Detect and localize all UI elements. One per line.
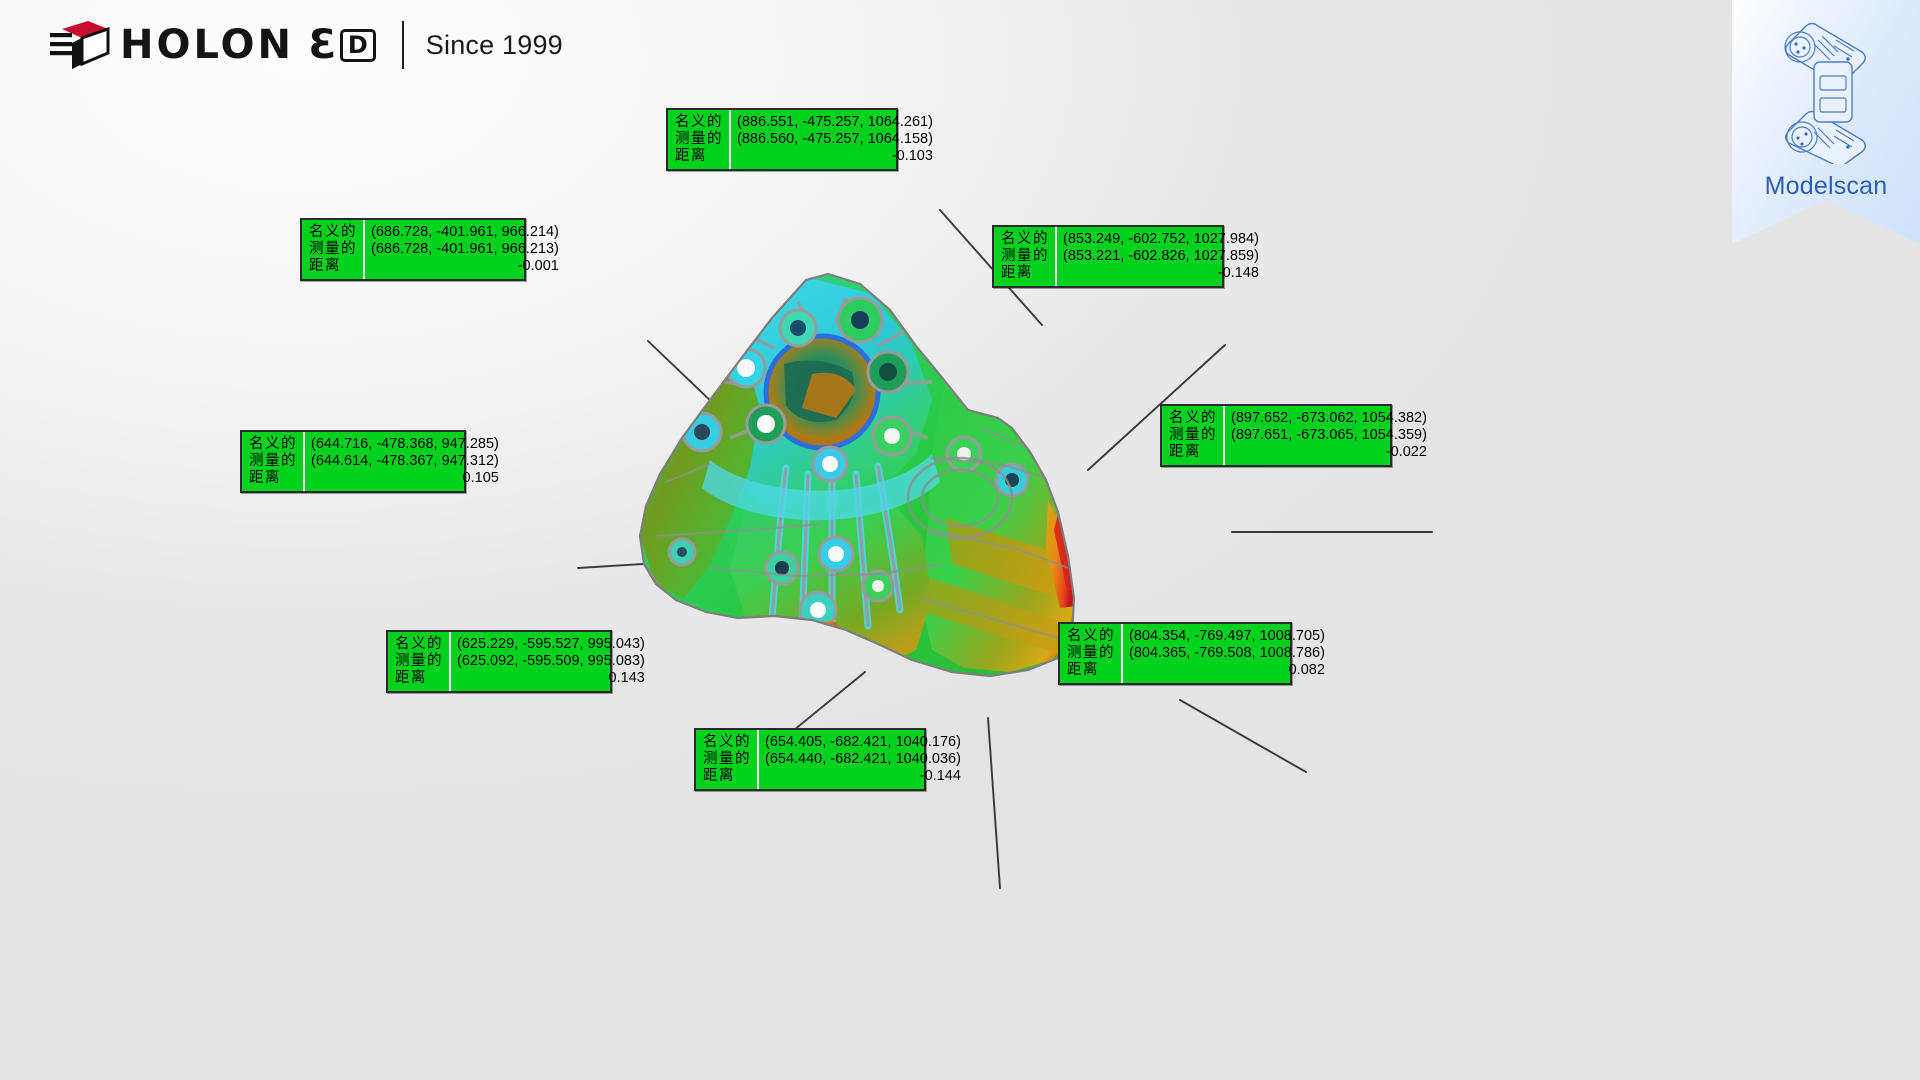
label-measured: 测量的: [309, 241, 357, 258]
ribbon-label: Modelscan: [1732, 172, 1920, 201]
value-distance: -0.103: [737, 148, 933, 165]
label-measured: 测量的: [1001, 248, 1049, 265]
value-nominal: (897.652, -673.062, 1054.382): [1231, 410, 1427, 427]
label-nominal: 名义的: [703, 734, 751, 751]
callout-top[interactable]: 名义的 测量的 距离 (886.551, -475.257, 1064.261)…: [666, 108, 898, 171]
label-nominal: 名义的: [1169, 410, 1217, 427]
label-measured: 测量的: [1067, 645, 1115, 662]
callout-keys: 名义的 测量的 距离: [302, 220, 365, 279]
callout-values: (897.652, -673.062, 1054.382) (897.651, …: [1225, 406, 1434, 465]
label-nominal: 名义的: [395, 636, 443, 653]
label-measured: 测量的: [675, 131, 723, 148]
value-measured: (654.440, -682.421, 1040.036): [765, 751, 961, 768]
label-measured: 测量的: [395, 653, 443, 670]
label-distance: 距离: [249, 470, 297, 487]
callout-keys: 名义的 测量的 距离: [242, 432, 305, 491]
callout-keys: 名义的 测量的 距离: [696, 730, 759, 789]
value-nominal: (853.249, -602.752, 1027.984): [1063, 231, 1259, 248]
brand-tagline: Since 1999: [426, 30, 563, 61]
callout-keys: 名义的 测量的 距离: [994, 227, 1057, 286]
value-measured: (644.614, -478.367, 947.312): [311, 453, 499, 470]
value-measured: (897.651, -673.065, 1054.359): [1231, 427, 1427, 444]
label-nominal: 名义的: [1067, 628, 1115, 645]
value-measured: (625.092, -595.509, 995.083): [457, 653, 645, 670]
brand-divider: [402, 21, 404, 69]
callout-values: (886.551, -475.257, 1064.261) (886.560, …: [731, 110, 940, 169]
value-nominal: (686.728, -401.961, 966.214): [371, 224, 559, 241]
value-distance: -0.022: [1231, 444, 1427, 461]
callout-upper-left[interactable]: 名义的 测量的 距离 (686.728, -401.961, 966.214) …: [300, 218, 526, 281]
label-distance: 距离: [1169, 444, 1217, 461]
label-distance: 距离: [675, 148, 723, 165]
value-nominal: (625.229, -595.527, 995.043): [457, 636, 645, 653]
label-nominal: 名义的: [309, 224, 357, 241]
callout-upper-right[interactable]: 名义的 测量的 距离 (853.249, -602.752, 1027.984)…: [992, 225, 1224, 288]
value-nominal: (654.405, -682.421, 1040.176): [765, 734, 961, 751]
value-measured: (686.728, -401.961, 966.213): [371, 241, 559, 258]
callout-right[interactable]: 名义的 测量的 距离 (897.652, -673.062, 1054.382)…: [1160, 404, 1392, 467]
callout-keys: 名义的 测量的 距离: [388, 632, 451, 691]
value-measured: (804.365, -769.508, 1008.786): [1129, 645, 1325, 662]
label-measured: 测量的: [1169, 427, 1217, 444]
label-distance: 距离: [1067, 662, 1115, 679]
brand-three-glyph: 3: [308, 25, 336, 65]
brand-d-glyph: D: [340, 29, 376, 62]
label-nominal: 名义的: [675, 114, 723, 131]
brand-wordmark: HOLON 3 D: [120, 25, 376, 65]
value-nominal: (886.551, -475.257, 1064.261): [737, 114, 933, 131]
callout-keys: 名义的 测量的 距离: [1162, 406, 1225, 465]
callout-values: (644.716, -478.368, 947.285) (644.614, -…: [305, 432, 506, 491]
label-distance: 距离: [395, 670, 443, 687]
value-distance: -0.148: [1063, 265, 1259, 282]
callout-keys: 名义的 测量的 距离: [668, 110, 731, 169]
value-distance: 0.143: [457, 670, 645, 687]
value-measured: (886.560, -475.257, 1064.158): [737, 131, 933, 148]
value-distance: -0.001: [371, 258, 559, 275]
modelscan-ribbon: Modelscan: [1732, 0, 1920, 244]
value-measured: (853.221, -602.826, 1027.859): [1063, 248, 1259, 265]
label-distance: 距离: [309, 258, 357, 275]
value-nominal: (804.354, -769.497, 1008.705): [1129, 628, 1325, 645]
callout-values: (804.354, -769.497, 1008.705) (804.365, …: [1123, 624, 1332, 683]
label-distance: 距离: [703, 768, 751, 785]
label-distance: 距离: [1001, 265, 1049, 282]
callout-values: (625.229, -595.527, 995.043) (625.092, -…: [451, 632, 652, 691]
label-measured: 测量的: [703, 751, 751, 768]
label-nominal: 名义的: [249, 436, 297, 453]
callout-lower-left[interactable]: 名义的 测量的 距离 (625.229, -595.527, 995.043) …: [386, 630, 612, 693]
callout-values: (686.728, -401.961, 966.214) (686.728, -…: [365, 220, 566, 279]
value-distance: 0.105: [311, 470, 499, 487]
callout-values: (853.249, -602.752, 1027.984) (853.221, …: [1057, 227, 1266, 286]
handheld-3d-scanner-icon: [1762, 14, 1890, 164]
holon-cube-icon: [48, 19, 110, 71]
label-nominal: 名义的: [1001, 231, 1049, 248]
value-nominal: (644.716, -478.368, 947.285): [311, 436, 499, 453]
callout-keys: 名义的 测量的 距离: [1060, 624, 1123, 683]
callout-left[interactable]: 名义的 测量的 距离 (644.716, -478.368, 947.285) …: [240, 430, 466, 493]
brand-name: HOLON: [120, 25, 294, 65]
callout-bottom[interactable]: 名义的 测量的 距离 (654.405, -682.421, 1040.176)…: [694, 728, 926, 791]
value-distance: -0.144: [765, 768, 961, 785]
callout-lower-right[interactable]: 名义的 测量的 距离 (804.354, -769.497, 1008.705)…: [1058, 622, 1292, 685]
value-distance: 0.082: [1129, 662, 1325, 679]
scan-report-canvas: HOLON 3 D Since 1999: [0, 0, 1920, 1080]
callout-values: (654.405, -682.421, 1040.176) (654.440, …: [759, 730, 968, 789]
brand-header: HOLON 3 D Since 1999: [48, 16, 563, 74]
label-measured: 测量的: [249, 453, 297, 470]
